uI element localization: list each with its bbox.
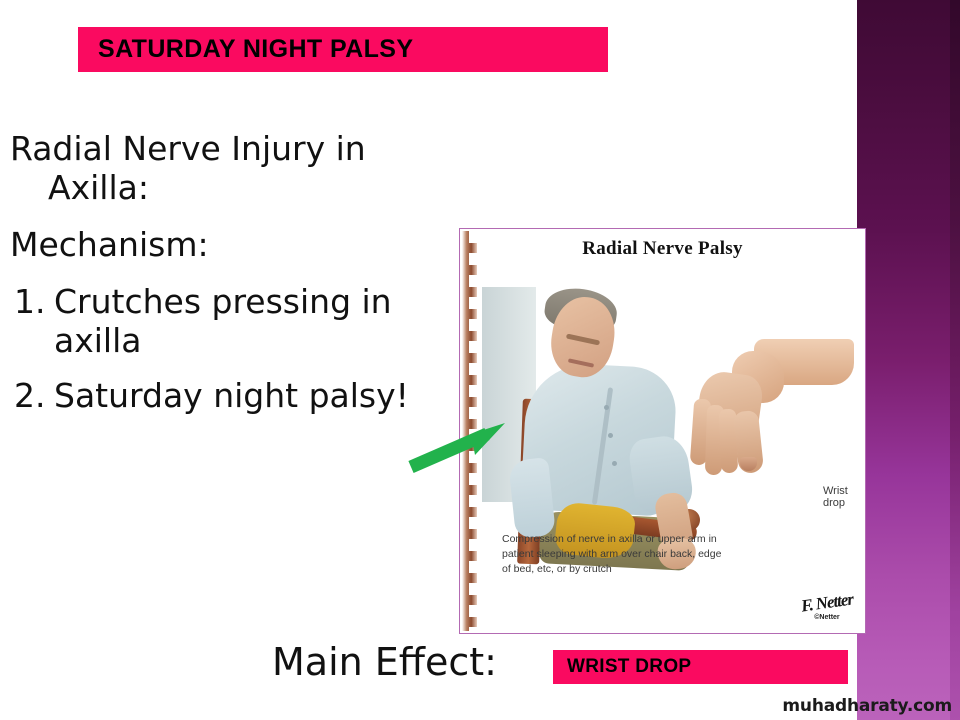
title-banner: SATURDAY NIGHT PALSY bbox=[78, 27, 608, 72]
main-effect-label: Main Effect: bbox=[272, 640, 497, 684]
mechanism-list: 1. Crutches pressing in axilla 2. Saturd… bbox=[10, 283, 440, 416]
list-item: 1. Crutches pressing in axilla bbox=[10, 283, 440, 361]
illustration-caption: Compression of nerve in axilla or upper … bbox=[502, 532, 732, 578]
watermark: muhadharaty.com bbox=[782, 696, 952, 716]
list-item: 2. Saturday night palsy! bbox=[10, 377, 440, 416]
wrist-drop-banner: WRIST DROP bbox=[553, 650, 848, 684]
illustration-title: Radial Nerve Palsy bbox=[460, 238, 865, 260]
body-text-column: Radial Nerve Injury in Axilla: Mechanism… bbox=[10, 130, 440, 432]
list-item-number: 1. bbox=[14, 283, 46, 322]
wrist-drop-hand-figure bbox=[658, 325, 853, 490]
heading-radial-nerve-injury: Radial Nerve Injury in Axilla: bbox=[10, 130, 440, 208]
list-item-label: Saturday night palsy! bbox=[54, 376, 409, 415]
decorative-sidebar-edge bbox=[950, 0, 960, 720]
green-arrow-icon bbox=[405, 405, 525, 485]
slide-canvas: SATURDAY NIGHT PALSY Radial Nerve Injury… bbox=[0, 0, 960, 720]
list-item-label: Crutches pressing in axilla bbox=[54, 282, 392, 360]
subheading-mechanism: Mechanism: bbox=[10, 226, 440, 265]
netter-signature: F. Netter ©Netter bbox=[801, 593, 853, 621]
wrist-drop-label: Wrist drop bbox=[823, 485, 865, 509]
title-banner-text: SATURDAY NIGHT PALSY bbox=[98, 35, 413, 64]
wrist-drop-banner-text: WRIST DROP bbox=[567, 656, 691, 678]
list-item-number: 2. bbox=[14, 377, 46, 416]
decorative-sidebar bbox=[857, 0, 960, 720]
netter-signature-mark: F. Netter bbox=[800, 589, 854, 616]
